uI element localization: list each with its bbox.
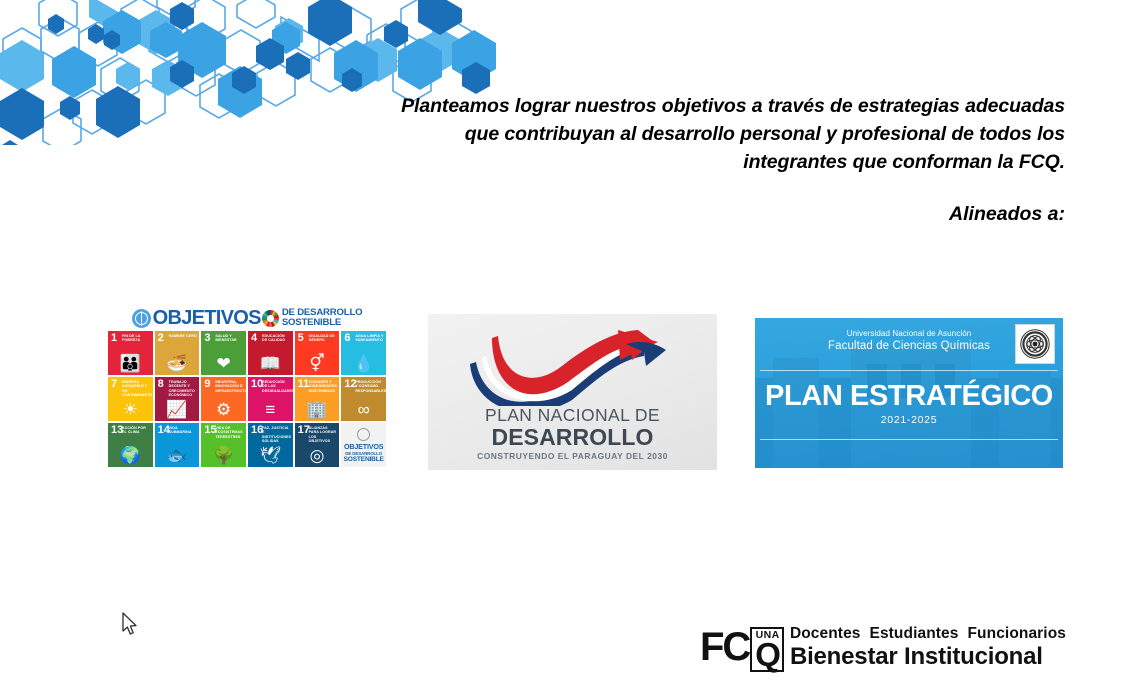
sdg-goal-title: VIDA DE ECOSISTEMAS TERRESTRES [215, 426, 244, 439]
sdg-goal-title: EDUCACIÓN DE CALIDAD [262, 334, 291, 343]
sdg-goal-9[interactable]: 9INDUSTRIA, INNOVACIÓN E INFRAESTRUCTURA… [201, 377, 246, 421]
sdg-goal-title: SALUD Y BIENESTAR [215, 334, 244, 343]
hexagon-fills-light [0, 0, 459, 96]
footer-branding: FC UNA Q DocentesEstudiantesFuncionarios… [700, 624, 1075, 672]
sdg-goal-pictogram-icon: 👪 [108, 355, 153, 372]
sdg-goal-title: REDUCCIÓN DE LAS DESIGUALDADES [262, 380, 291, 393]
sdg-goal-title: PRODUCCIÓN Y CONSUMO RESPONSABLES [355, 380, 384, 393]
fcq-letter-q: Q [755, 639, 780, 670]
sdg-goal-number: 7 [111, 379, 117, 390]
sdg-poster-header: OBJETIVOS DE DESARROLLO SOSTENIBLE [108, 305, 386, 331]
sdg-goal-title: TRABAJO DECENTE Y CRECIMIENTO ECONÓMICO [169, 380, 198, 397]
sdg-goal-title: ALIANZAS PARA LOGRAR LOS OBJETIVOS [309, 426, 338, 443]
sdg-goal-number: 6 [344, 333, 350, 344]
sdg-goal-title: ENERGÍA ASEQUIBLE Y NO CONTAMINANTE [122, 380, 151, 397]
sdg-color-wheel-icon [262, 310, 279, 327]
sdg-goal-1[interactable]: 1FIN DE LA POBREZA👪 [108, 331, 153, 375]
sdg-tile-line3: SOSTENIBLE [344, 456, 384, 463]
sdg-goal-number: 3 [204, 333, 210, 344]
sdg-goal-pictogram-icon: ⚙ [201, 401, 246, 418]
sdg-goal-5[interactable]: 5IGUALDAD DE GÉNERO⚥ [295, 331, 340, 375]
sdg-goal-pictogram-icon: 🌳 [201, 447, 246, 464]
mission-statement: Planteamos lograr nuestros objetivos a t… [400, 92, 1065, 176]
sdg-goal-pictogram-icon: ≡ [248, 401, 293, 418]
sdg-goal-title: ACCIÓN POR EL CLIMA [122, 426, 151, 435]
pnd-line-3: CONSTRUYENDO EL PARAGUAY DEL 2030 [428, 450, 717, 462]
sdg-goal-pictogram-icon: 🏢 [295, 401, 340, 418]
sdg-goal-4[interactable]: 4EDUCACIÓN DE CALIDAD📖 [248, 331, 293, 375]
sdg-goal-2[interactable]: 2HAMBRE CERO🍜 [155, 331, 200, 375]
pnd-line-2: DESARROLLO [428, 425, 717, 449]
fcq-una-logo: FC UNA Q [700, 627, 784, 673]
sdg-goal-number: 9 [204, 379, 210, 390]
footer-audience-1: Estudiantes [870, 625, 959, 642]
pnd-wordmark: PLAN NACIONAL DE DESARROLLO CONSTRUYENDO… [428, 406, 717, 462]
un-emblem-small-icon [357, 428, 370, 441]
sdg-goal-11[interactable]: 11CIUDADES Y COMUNIDADES SOSTENIBLES🏢 [295, 377, 340, 421]
sdg-goal-pictogram-icon: ⚥ [295, 355, 340, 372]
sdg-goal-7[interactable]: 7ENERGÍA ASEQUIBLE Y NO CONTAMINANTE☀ [108, 377, 153, 421]
sdg-goal-17[interactable]: 17ALIANZAS PARA LOGRAR LOS OBJETIVOS◎ [295, 423, 340, 467]
sdg-goal-title: INDUSTRIA, INNOVACIÓN E INFRAESTRUCTURA [215, 380, 244, 393]
sdg-goal-pictogram-icon: ◎ [295, 447, 340, 464]
una-seal-icon [1015, 324, 1055, 364]
sdg-goal-pictogram-icon: 🍜 [155, 355, 200, 372]
sdg-goal-title: AGUA LIMPIA Y SANEAMIENTO [355, 334, 384, 343]
sdg-goal-grid: 1FIN DE LA POBREZA👪2HAMBRE CERO🍜3SALUD Y… [108, 331, 386, 467]
footer-audiences: DocentesEstudiantesFuncionarios [790, 624, 1075, 643]
sdg-goal-pictogram-icon: 📖 [248, 355, 293, 372]
mouse-cursor [122, 612, 140, 638]
sdg-goal-number: 4 [251, 333, 257, 344]
sdg-goal-10[interactable]: 10REDUCCIÓN DE LAS DESIGUALDADES≡ [248, 377, 293, 421]
sdg-goal-pictogram-icon: 💧 [341, 355, 386, 372]
pe-years: 2021-2025 [755, 414, 1063, 426]
footer-audience-2: Funcionarios [967, 625, 1066, 642]
sdg-goal-number: 8 [158, 379, 164, 390]
footer-text-block: DocentesEstudiantesFuncionarios Bienesta… [790, 624, 1075, 672]
footer-tagline: Bienestar Institucional [790, 643, 1075, 670]
pe-title: PLAN ESTRATÉGICO [755, 380, 1063, 412]
sdg-goal-16[interactable]: 16PAZ, JUSTICIA E INSTITUCIONES SÓLIDAS🕊 [248, 423, 293, 467]
sdg-poster-logo[interactable]: OBJETIVOS DE DESARROLLO SOSTENIBLE 1FIN … [108, 305, 386, 473]
sdg-goal-pictogram-icon: ∞ [341, 401, 386, 418]
sdg-goal-pictogram-icon: 🕊 [248, 447, 293, 464]
sdg-goal-pictogram-icon: 📈 [155, 401, 200, 418]
sdg-goal-pictogram-icon: 🐟 [155, 447, 200, 464]
sdg-goal-title: HAMBRE CERO [169, 334, 198, 338]
fcq-letters-fc: FC [700, 627, 749, 667]
plan-nacional-desarrollo-logo[interactable]: PLAN NACIONAL DE DESARROLLO CONSTRUYENDO… [428, 314, 717, 470]
sdg-goal-8[interactable]: 8TRABAJO DECENTE Y CRECIMIENTO ECONÓMICO… [155, 377, 200, 421]
sdg-tile-line1: OBJETIVOS [344, 442, 383, 451]
sdg-goal-pictogram-icon: 🌍 [108, 447, 153, 464]
sdg-goal-title: CIUDADES Y COMUNIDADES SOSTENIBLES [309, 380, 338, 393]
fcq-una-box: UNA Q [750, 627, 784, 673]
sdg-goal-pictogram-icon: ☀ [108, 401, 153, 418]
sdg-goal-title: FIN DE LA POBREZA [122, 334, 151, 343]
sdg-goal-14[interactable]: 14VIDA SUBMARINA🐟 [155, 423, 200, 467]
sdg-goal-15[interactable]: 15VIDA DE ECOSISTEMAS TERRESTRES🌳 [201, 423, 246, 467]
sdg-header-subtitle: DE DESARROLLO SOSTENIBLE [282, 308, 363, 329]
sdg-goal-number: 1 [111, 333, 117, 344]
sdg-header-sub-line2: SOSTENIBLE [282, 318, 363, 329]
sdg-goal-title: VIDA SUBMARINA [169, 426, 198, 435]
sdg-goal-number: 11 [298, 379, 310, 390]
sdg-goal-title: IGUALDAD DE GÉNERO [309, 334, 338, 343]
sdg-header-word: OBJETIVOS [153, 308, 261, 328]
sdg-goal-3[interactable]: 3SALUD Y BIENESTAR❤ [201, 331, 246, 375]
sdg-goal-pictogram-icon: ❤ [201, 355, 246, 372]
un-emblem-icon [132, 309, 151, 328]
footer-audience-0: Docentes [790, 625, 861, 642]
aligned-to-label: Alineados a: [400, 203, 1065, 226]
sdg-goal-12[interactable]: 12PRODUCCIÓN Y CONSUMO RESPONSABLES∞ [341, 377, 386, 421]
sdg-wordmark-tile: OBJETIVOSDE DESARROLLOSOSTENIBLE [341, 423, 386, 467]
sdg-goal-13[interactable]: 13ACCIÓN POR EL CLIMA🌍 [108, 423, 153, 467]
pnd-line-1: PLAN NACIONAL DE [428, 406, 717, 425]
plan-estrategico-logo[interactable]: Universidad Nacional de Asunción Faculta… [755, 318, 1063, 468]
sdg-goal-number: 5 [298, 333, 304, 344]
sdg-goal-title: PAZ, JUSTICIA E INSTITUCIONES SÓLIDAS [262, 426, 291, 443]
sdg-goal-number: 2 [158, 333, 164, 344]
pnd-swoosh-icon [468, 326, 678, 406]
sdg-goal-6[interactable]: 6AGUA LIMPIA Y SANEAMIENTO💧 [341, 331, 386, 375]
